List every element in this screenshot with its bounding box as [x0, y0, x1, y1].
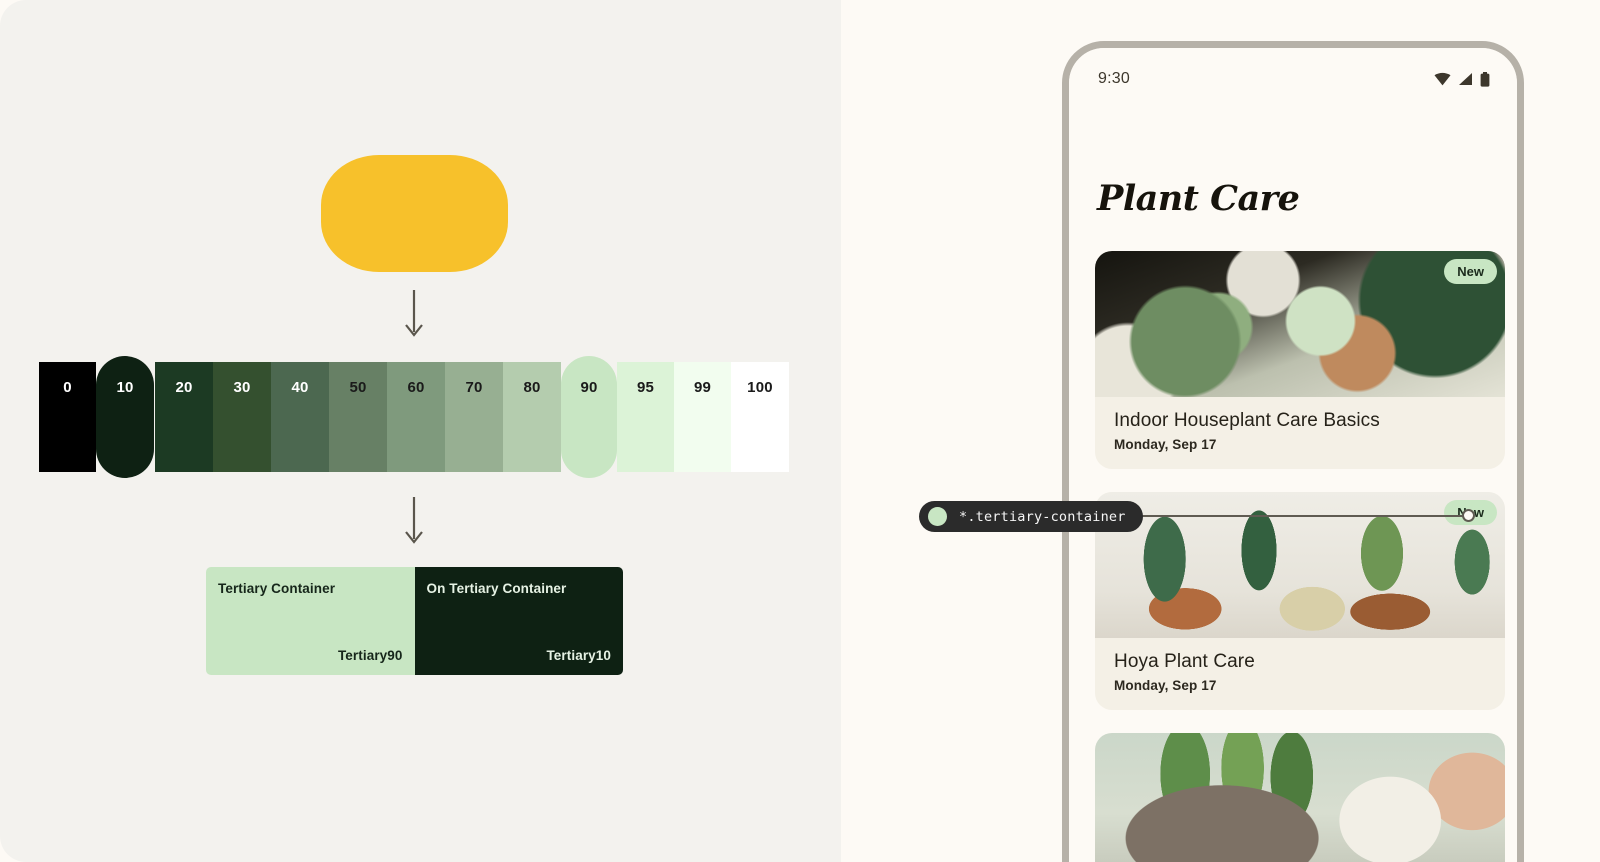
token-name: *.tertiary-container — [959, 509, 1126, 525]
phone-screen: 9:30 Plant Care — [1069, 48, 1517, 862]
watering-plant-photo — [1095, 733, 1505, 862]
tone-label: 0 — [63, 380, 72, 472]
token-connector-line — [1110, 515, 1470, 517]
tone-label: 80 — [523, 380, 540, 472]
tone-swatch-20[interactable]: 20 — [155, 362, 213, 472]
card-body: Indoor Houseplant Care Basics Monday, Se… — [1095, 397, 1505, 469]
token-tooltip[interactable]: *.tertiary-container — [919, 501, 1143, 532]
signal-icon — [1458, 72, 1473, 86]
wifi-icon — [1434, 72, 1451, 86]
token-target-handle[interactable] — [1462, 509, 1475, 522]
tone-label: 20 — [175, 380, 192, 472]
table-row[interactable]: New Indoor Houseplant Care Basics Monday… — [1095, 251, 1505, 469]
table-row[interactable]: New Hoya Plant Care Monday, Sep 17 — [1095, 492, 1505, 710]
card-date: Monday, Sep 17 — [1114, 678, 1486, 693]
tone-swatch-100[interactable]: 100 — [731, 362, 789, 472]
tone-swatch-95[interactable]: 95 — [617, 362, 674, 472]
battery-icon — [1480, 72, 1490, 87]
palette-diagram-panel: 01020304050607080909599100 Tertiary Cont… — [0, 0, 841, 862]
phone-mockup: 9:30 Plant Care — [1062, 41, 1524, 862]
plant-care-card-list: New Indoor Houseplant Care Basics Monday… — [1095, 251, 1505, 862]
tone-label: 30 — [233, 380, 250, 472]
tone-swatch-10[interactable]: 10 — [96, 356, 154, 478]
tertiary-container-label: Tertiary Container — [218, 581, 403, 596]
tone-swatch-70[interactable]: 70 — [445, 362, 503, 472]
tone-label: 10 — [116, 380, 133, 478]
tone-swatch-99[interactable]: 99 — [674, 362, 731, 472]
tone-label: 60 — [407, 380, 424, 472]
tone-label: 50 — [349, 380, 366, 472]
on-tertiary-container-role[interactable]: On Tertiary Container Tertiary10 — [415, 567, 624, 675]
tone-swatch-30[interactable]: 30 — [213, 362, 271, 472]
screenshot-root: 01020304050607080909599100 Tertiary Cont… — [0, 0, 1600, 862]
on-tertiary-container-label: On Tertiary Container — [427, 581, 612, 596]
card-media: New — [1095, 251, 1505, 397]
card-date: Monday, Sep 17 — [1114, 437, 1486, 452]
status-badge[interactable]: New — [1444, 259, 1497, 284]
status-bar-icons — [1434, 72, 1490, 87]
tone-swatch-60[interactable]: 60 — [387, 362, 445, 472]
tone-label: 99 — [694, 380, 711, 472]
status-bar: 9:30 — [1069, 48, 1517, 110]
card-title: Hoya Plant Care — [1114, 651, 1486, 673]
tone-swatch-80[interactable]: 80 — [503, 362, 561, 472]
tone-swatch-0[interactable]: 0 — [39, 362, 96, 472]
card-title: Indoor Houseplant Care Basics — [1114, 410, 1486, 432]
page-title: Plant Care — [1097, 178, 1299, 219]
tone-swatch-50[interactable]: 50 — [329, 362, 387, 472]
tone-label: 90 — [580, 380, 597, 478]
color-role-pair: Tertiary Container Tertiary90 On Tertiar… — [206, 567, 623, 675]
tone-swatch-40[interactable]: 40 — [271, 362, 329, 472]
table-row[interactable] — [1095, 733, 1505, 862]
flow-arrow-down-top — [398, 288, 430, 340]
tertiary-container-tone: Tertiary90 — [338, 648, 403, 663]
tone-label: 40 — [291, 380, 308, 472]
tonal-palette-strip: 01020304050607080909599100 — [39, 362, 789, 472]
tone-label: 70 — [465, 380, 482, 472]
token-color-swatch-icon — [928, 507, 947, 526]
tertiary-container-role[interactable]: Tertiary Container Tertiary90 — [206, 567, 415, 675]
tone-swatch-90[interactable]: 90 — [561, 356, 617, 478]
on-tertiary-container-tone: Tertiary10 — [546, 648, 611, 663]
card-body: Hoya Plant Care Monday, Sep 17 — [1095, 638, 1505, 710]
tone-label: 95 — [637, 380, 654, 472]
flow-arrow-down-bottom — [398, 495, 430, 547]
tone-label: 100 — [747, 380, 773, 472]
status-bar-time: 9:30 — [1098, 70, 1130, 88]
card-media — [1095, 733, 1505, 862]
card-media: New — [1095, 492, 1505, 638]
source-color-swatch[interactable] — [321, 155, 508, 272]
